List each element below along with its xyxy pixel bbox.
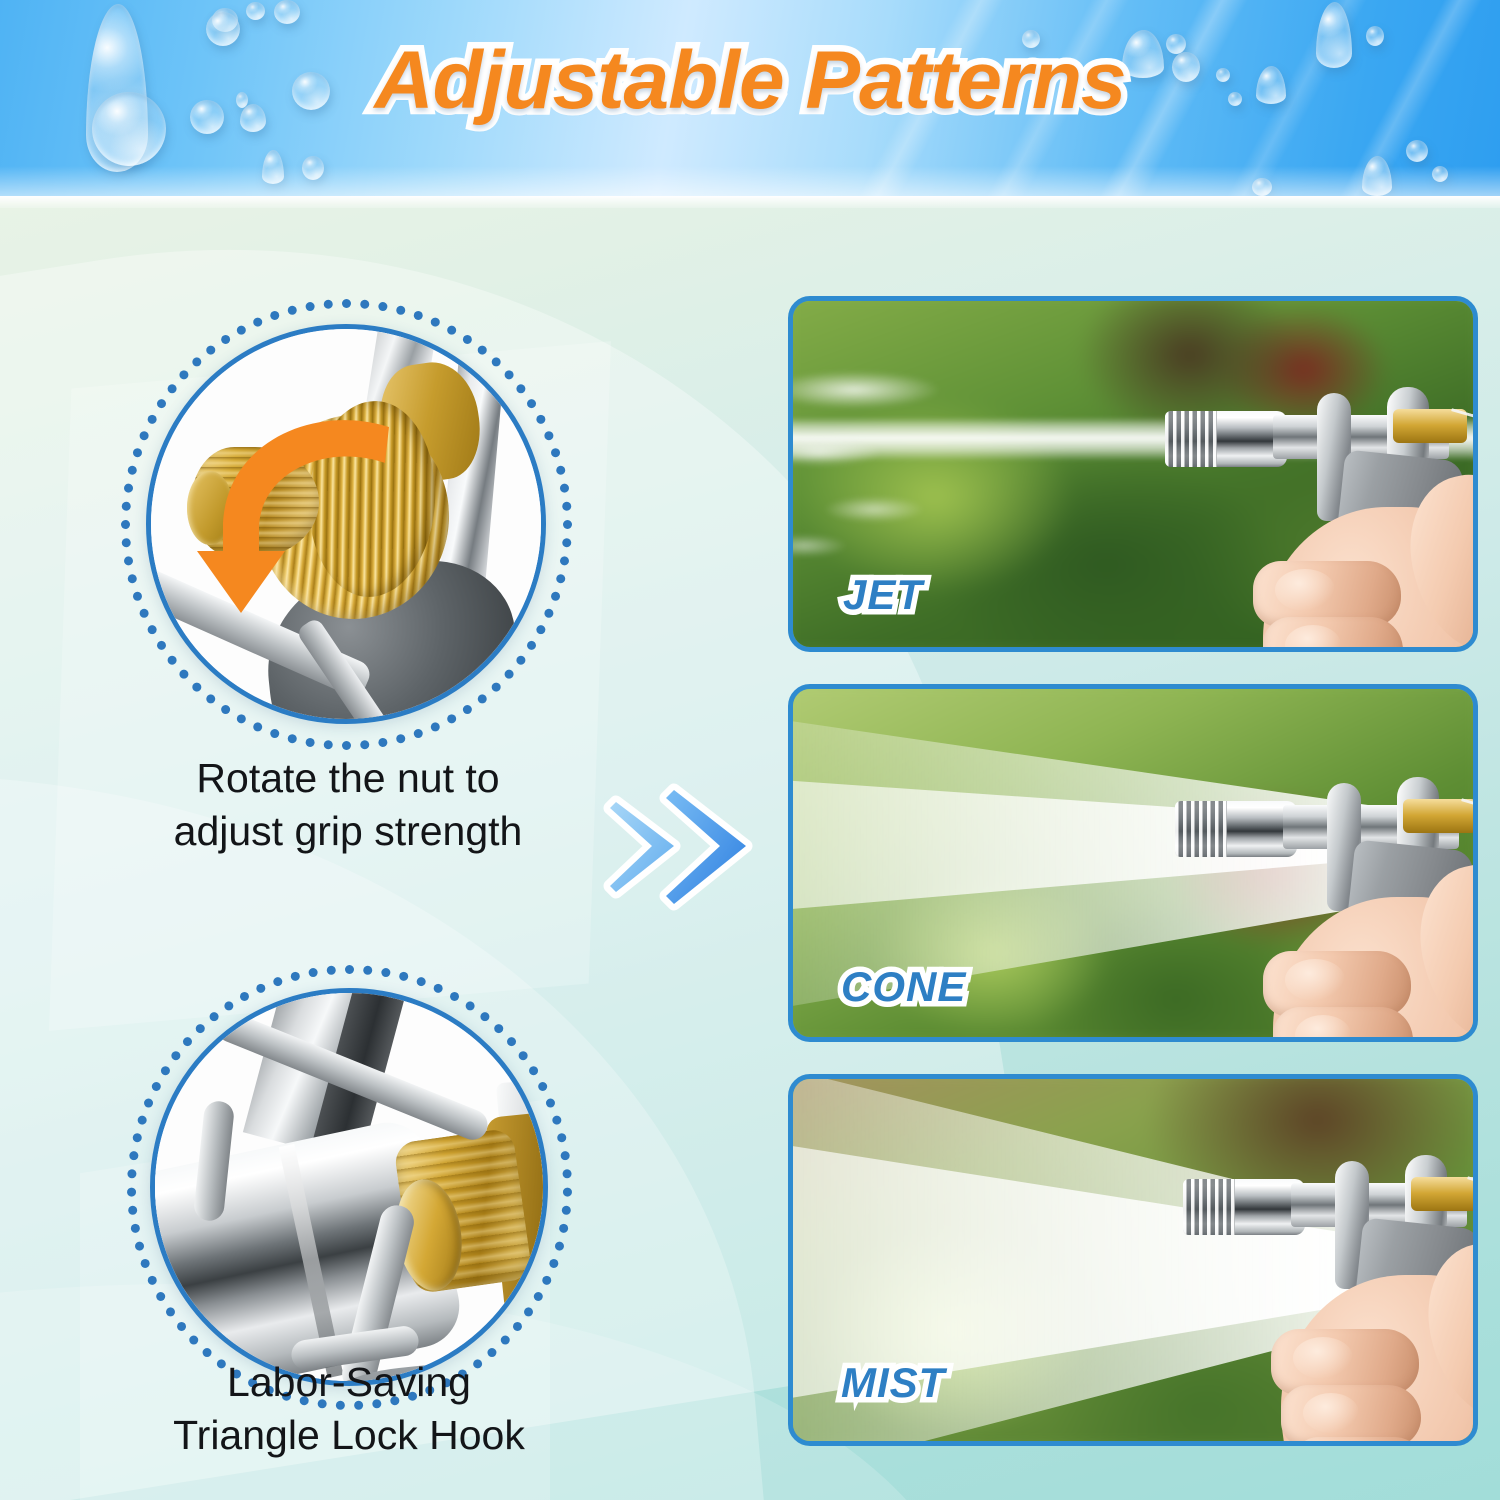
nozzle-tip (1183, 1179, 1305, 1235)
nozzle-tip (1175, 801, 1297, 857)
water-droplet-icon (274, 0, 300, 24)
header-bottom-fade (0, 166, 1500, 196)
rotate-arrow-icon (193, 401, 407, 631)
spray-splash (793, 317, 1019, 577)
feature-caption-triangle-lock-hook: Labor-Saving Triangle Lock Hook (96, 1356, 602, 1463)
infographic-page: Adjustable Patterns (0, 0, 1500, 1500)
nozzle-tip (1165, 411, 1287, 467)
feature-inset-triangle-lock-hook (126, 964, 572, 1410)
feature-caption-grip-strength: Rotate the nut to adjust grip strength (100, 752, 596, 859)
pattern-panel-cone[interactable]: AAUTOMAN CONE (788, 684, 1478, 1042)
feature-inset-grip-strength (120, 298, 572, 750)
pattern-label-cone: CONE (841, 963, 966, 1011)
pattern-panel-jet[interactable]: AAUTOMAN JET (788, 296, 1478, 652)
pattern-panel-mist[interactable]: AAUTOMAN MIST (788, 1074, 1478, 1446)
pattern-label-jet: JET (843, 571, 923, 619)
water-droplet-icon (246, 2, 265, 20)
triangle-lock-hook-photo (150, 988, 548, 1386)
top-divider (0, 196, 1500, 208)
double-chevron-right-icon (600, 782, 790, 912)
pattern-label-mist: MIST (841, 1359, 945, 1407)
water-droplet-icon (1406, 140, 1428, 162)
brass-knurled-nut-photo (146, 324, 546, 724)
page-title: Adjustable Patterns (0, 40, 1500, 122)
